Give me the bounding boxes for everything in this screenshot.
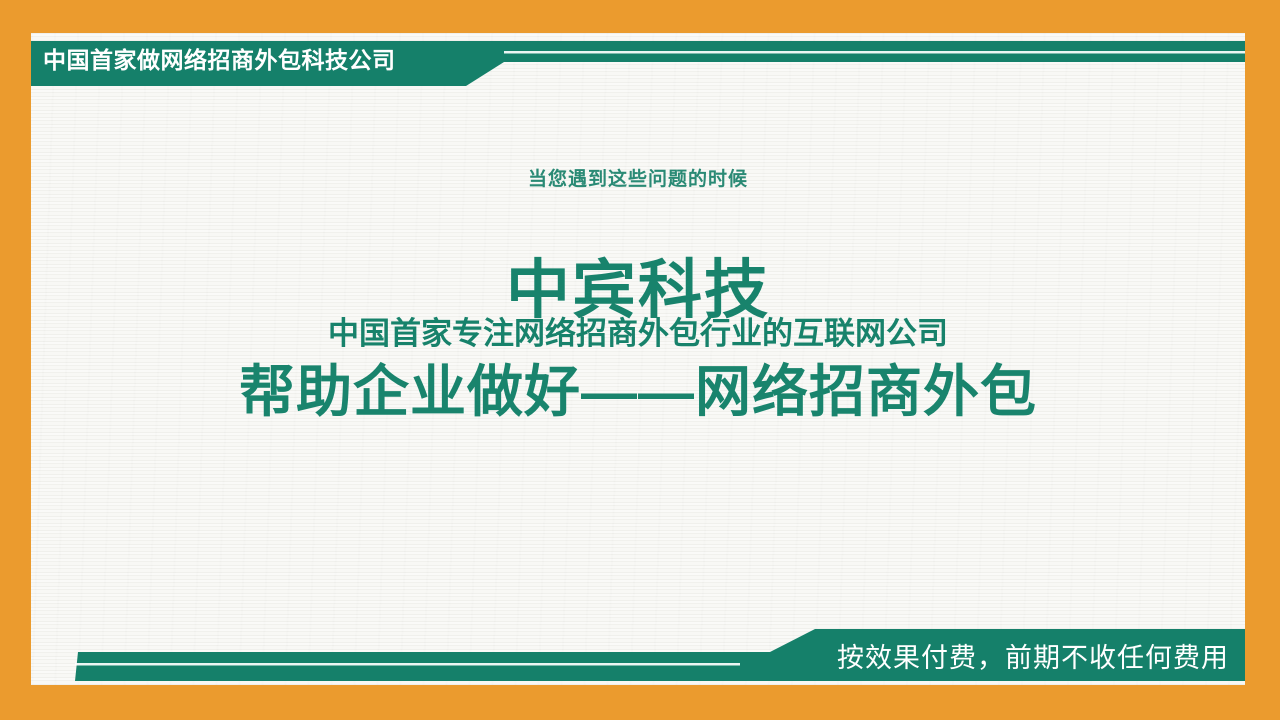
footer-hairline: [75, 663, 740, 666]
eyebrow-text: 当您遇到这些问题的时候: [31, 164, 1245, 191]
slide-canvas: 中国首家做网络招商外包科技公司 当您遇到这些问题的时候 中宾科技 中国首家专注网…: [0, 0, 1280, 720]
main-headline: 帮助企业做好——网络招商外包: [31, 360, 1245, 424]
slide-content-area: 中国首家做网络招商外包科技公司 当您遇到这些问题的时候 中宾科技 中国首家专注网…: [31, 33, 1245, 685]
brand-title: 中宾科技: [31, 258, 1245, 322]
header-hairline: [504, 51, 1245, 54]
brand-subtitle: 中国首家专注网络招商外包行业的互联网公司: [31, 318, 1245, 349]
footer-tagline-text: 按效果付费，前期不收任何费用: [837, 640, 1229, 676]
header-banner-text: 中国首家做网络招商外包科技公司: [43, 42, 396, 79]
